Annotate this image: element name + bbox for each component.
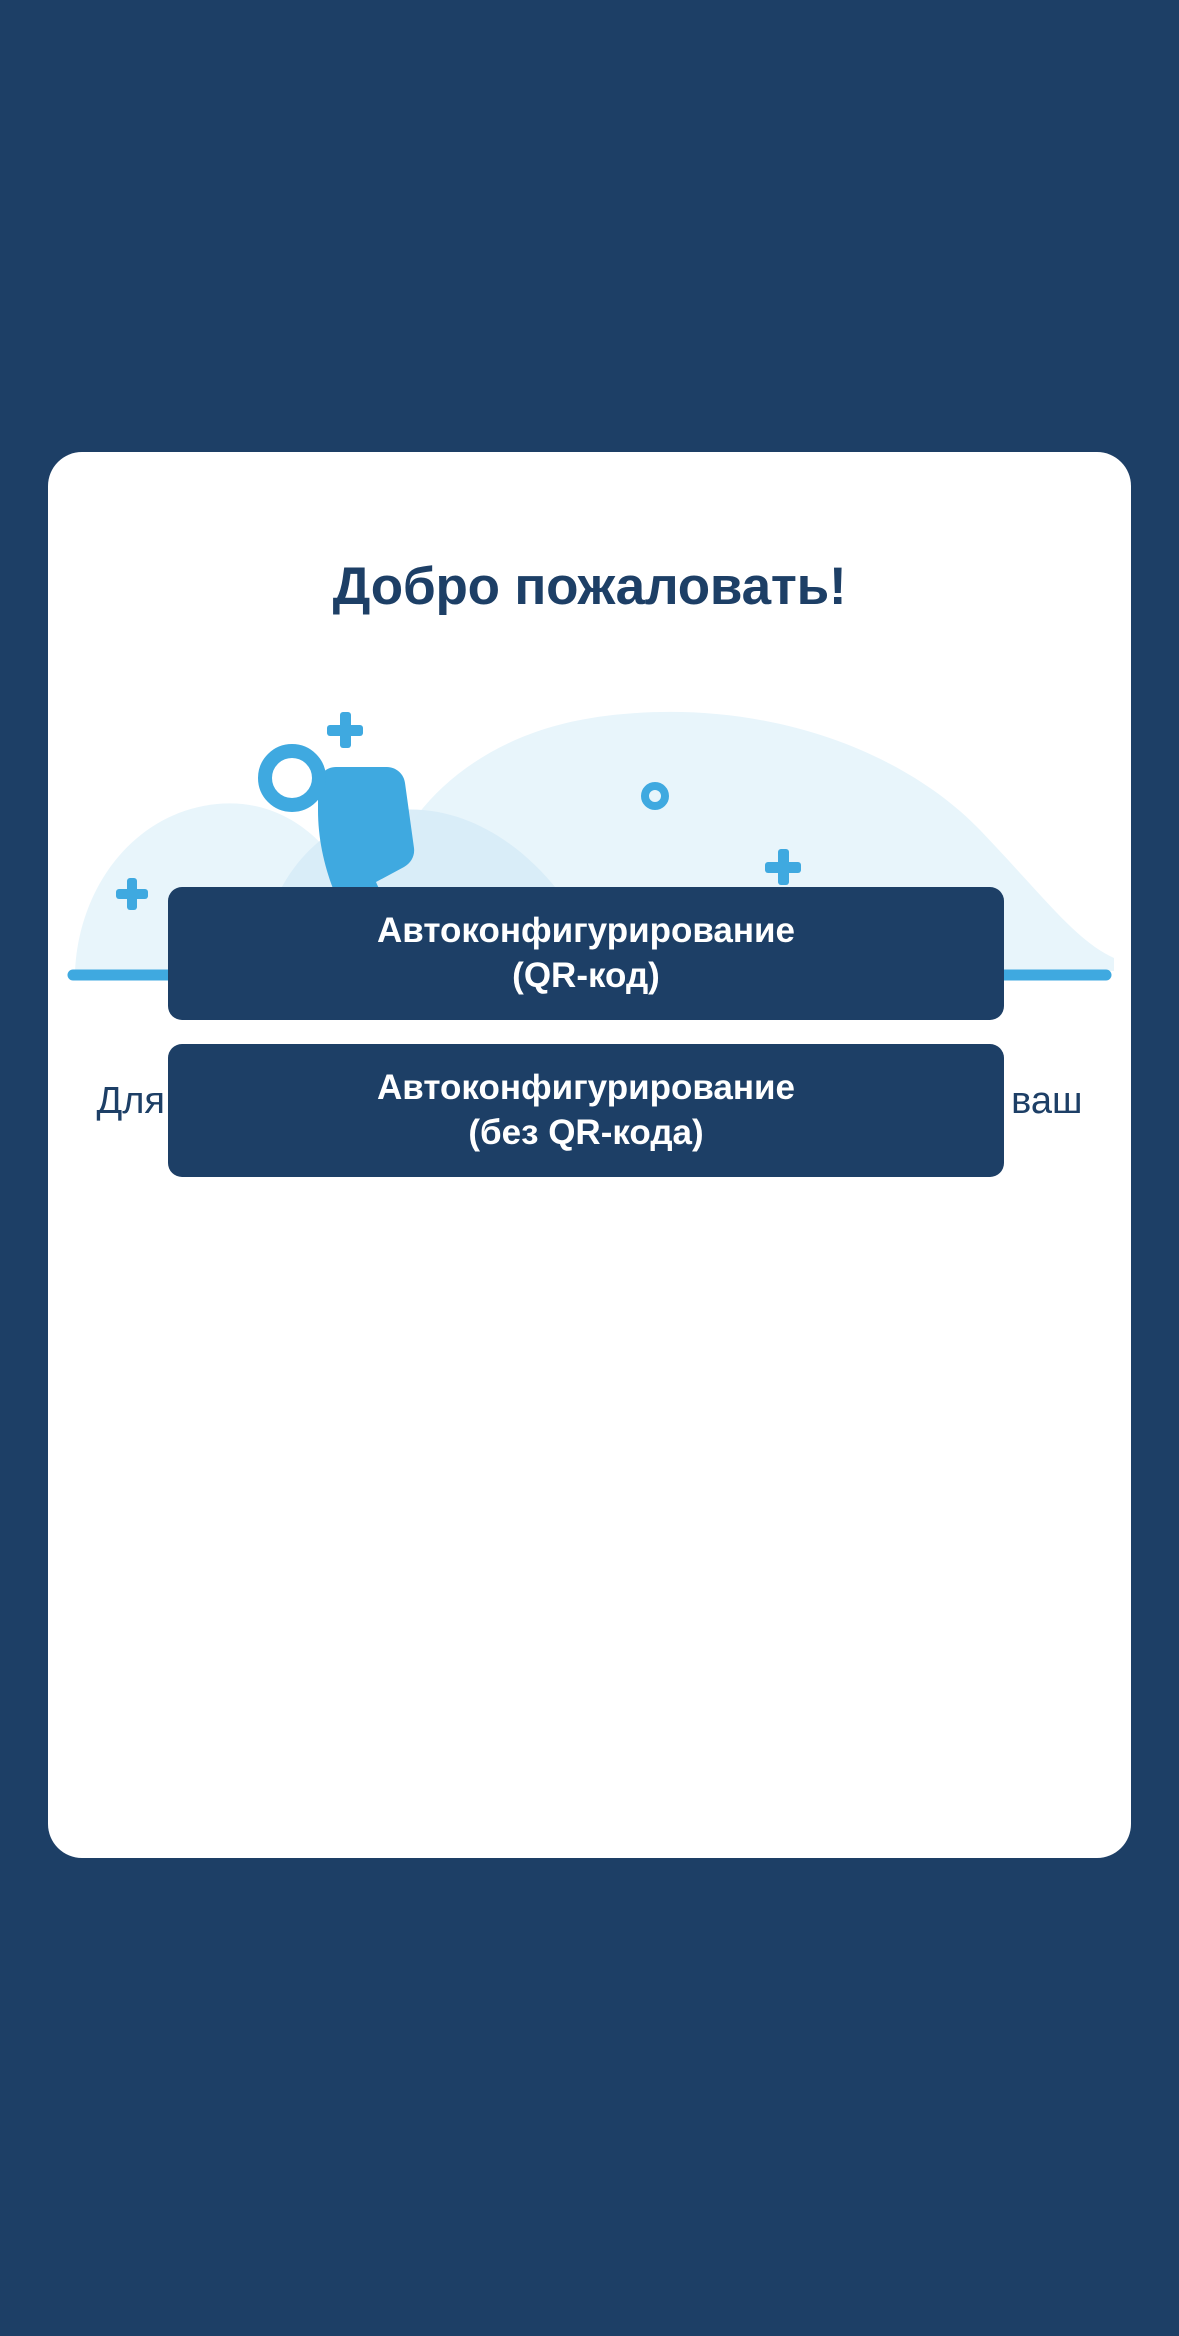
page-title: Добро пожаловать! (48, 556, 1131, 617)
autoconfig-noqr-button[interactable]: Автоконфигурирование (без QR-кода) (168, 1044, 1004, 1177)
autoconfig-qr-button-line-2: (QR-код) (168, 954, 1004, 998)
ring-icon (265, 751, 319, 805)
autoconfig-qr-button-line-1: Автоконфигурирование (168, 909, 1004, 953)
autoconfig-noqr-button-line-2: (без QR-кода) (168, 1111, 1004, 1155)
autoconfig-qr-button[interactable]: Автоконфигурирование (QR-код) (168, 887, 1004, 1020)
welcome-card: Добро пожаловать! (48, 452, 1131, 1858)
autoconfig-noqr-button-line-1: Автоконфигурирование (168, 1066, 1004, 1110)
plus-icon (327, 712, 363, 748)
